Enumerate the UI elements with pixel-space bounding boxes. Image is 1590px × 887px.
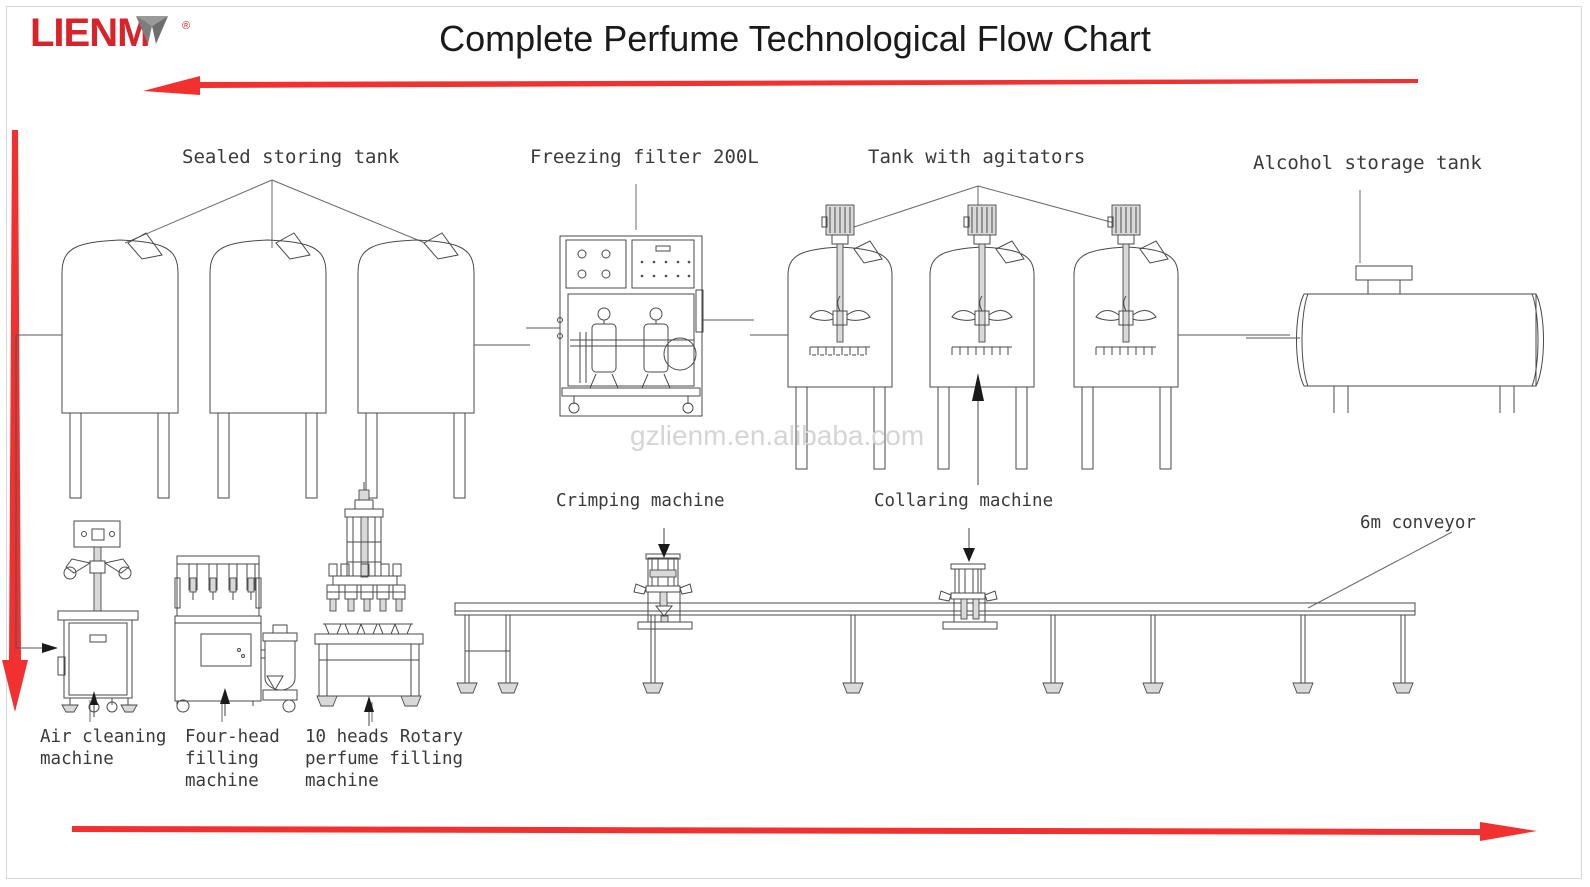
label-crimping-machine: Crimping machine <box>556 490 725 512</box>
collaring-machine <box>925 528 1015 638</box>
watermark: gzlienm.en.alibaba.com <box>630 420 924 452</box>
top-arrow-leftward <box>143 76 1418 95</box>
sealed-storing-tank <box>358 233 474 498</box>
alcohol-storage-tank <box>1288 258 1588 418</box>
four-head-filling-machine <box>163 538 303 718</box>
air-cleaning-machine <box>36 505 176 715</box>
crimping-machine <box>620 528 710 638</box>
tank-with-agitator <box>930 205 1034 469</box>
tank-with-agitator <box>1074 205 1178 469</box>
label-collaring-machine: Collaring machine <box>874 490 1053 512</box>
freezing-filter-machine <box>548 228 748 428</box>
sealed-storing-tank <box>210 233 326 498</box>
ten-heads-rotary-filling-machine <box>303 478 453 708</box>
flow-chart-page: LIENM ® Complete Perfume Technological F… <box>0 0 1590 887</box>
